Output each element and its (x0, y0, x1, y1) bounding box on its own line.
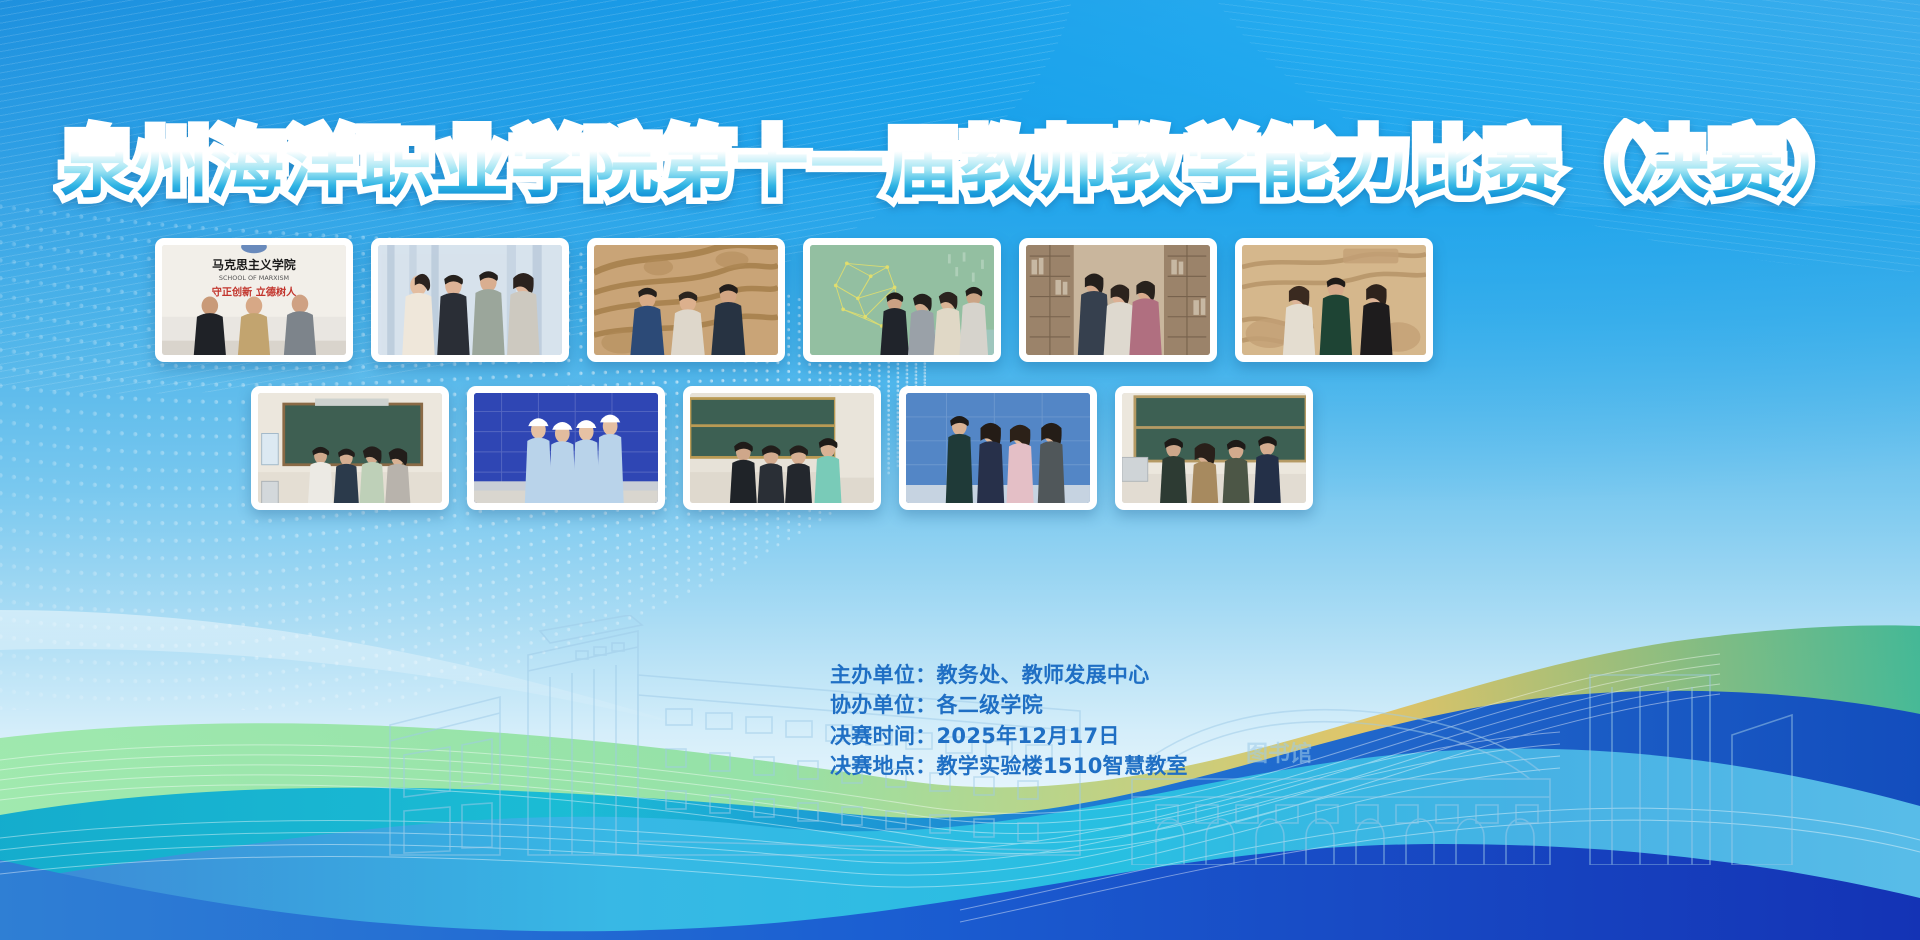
gallery-photo-r1c6[interactable] (1235, 238, 1433, 362)
gallery-photo-r2c5[interactable] (1115, 386, 1313, 510)
info-line-organizer: 主办单位：教务处、教师发展中心 (830, 660, 1188, 690)
gallery-photo-r2c3[interactable] (683, 386, 881, 510)
poster-title: 泉州海洋职业学院第十一届教师教学能力比赛（决赛） 泉州海洋职业学院第十一届教师教… (60, 128, 1860, 202)
event-info-block: 主办单位：教务处、教师发展中心 协办单位：各二级学院 决赛时间：2025年12月… (830, 660, 1188, 782)
svg-text:SCHOOL OF MARXISM: SCHOOL OF MARXISM (219, 274, 289, 282)
svg-text:马克思主义学院: 马克思主义学院 (212, 257, 296, 272)
photo-scene (474, 393, 658, 503)
photo-scene (690, 393, 874, 503)
gallery-photo-r2c2[interactable] (467, 386, 665, 510)
photo-scene (258, 393, 442, 503)
info-line-date: 决赛时间：2025年12月17日 (830, 721, 1188, 751)
info-line-venue: 决赛地点：教学实验楼1510智慧教室 (830, 751, 1188, 781)
info-line-co-organizer: 协办单位：各二级学院 (830, 690, 1188, 720)
gallery-photo-r2c1[interactable] (251, 386, 449, 510)
gallery-photo-r1c5[interactable] (1019, 238, 1217, 362)
photo-scene (906, 393, 1090, 503)
gallery-photo-r1c4[interactable] (803, 238, 1001, 362)
gallery-photo-r2c4[interactable] (899, 386, 1097, 510)
poster-title-container: 泉州海洋职业学院第十一届教师教学能力比赛（决赛） 泉州海洋职业学院第十一届教师教… (0, 128, 1920, 202)
photo-scene (810, 245, 994, 355)
photo-scene: 马克思主义学院 SCHOOL OF MARXISM 守正创新 立德树人 (162, 245, 346, 355)
poster-title-fill: 泉州海洋职业学院第十一届教师教学能力比赛（决赛） (60, 122, 1860, 208)
photo-scene (1122, 393, 1306, 503)
photo-scene (594, 245, 778, 355)
gallery-photo-r1c1[interactable]: 马克思主义学院 SCHOOL OF MARXISM 守正创新 立德树人 (155, 238, 353, 362)
gallery-photo-r1c3[interactable] (587, 238, 785, 362)
photo-scene (1242, 245, 1426, 355)
photo-scene (1026, 245, 1210, 355)
photo-scene (378, 245, 562, 355)
poster-canvas: 图书馆 马克思主义学院 SCHOOL OF MARXISM 守正创新 立德树人 (0, 0, 1920, 940)
gallery-photo-r1c2[interactable] (371, 238, 569, 362)
